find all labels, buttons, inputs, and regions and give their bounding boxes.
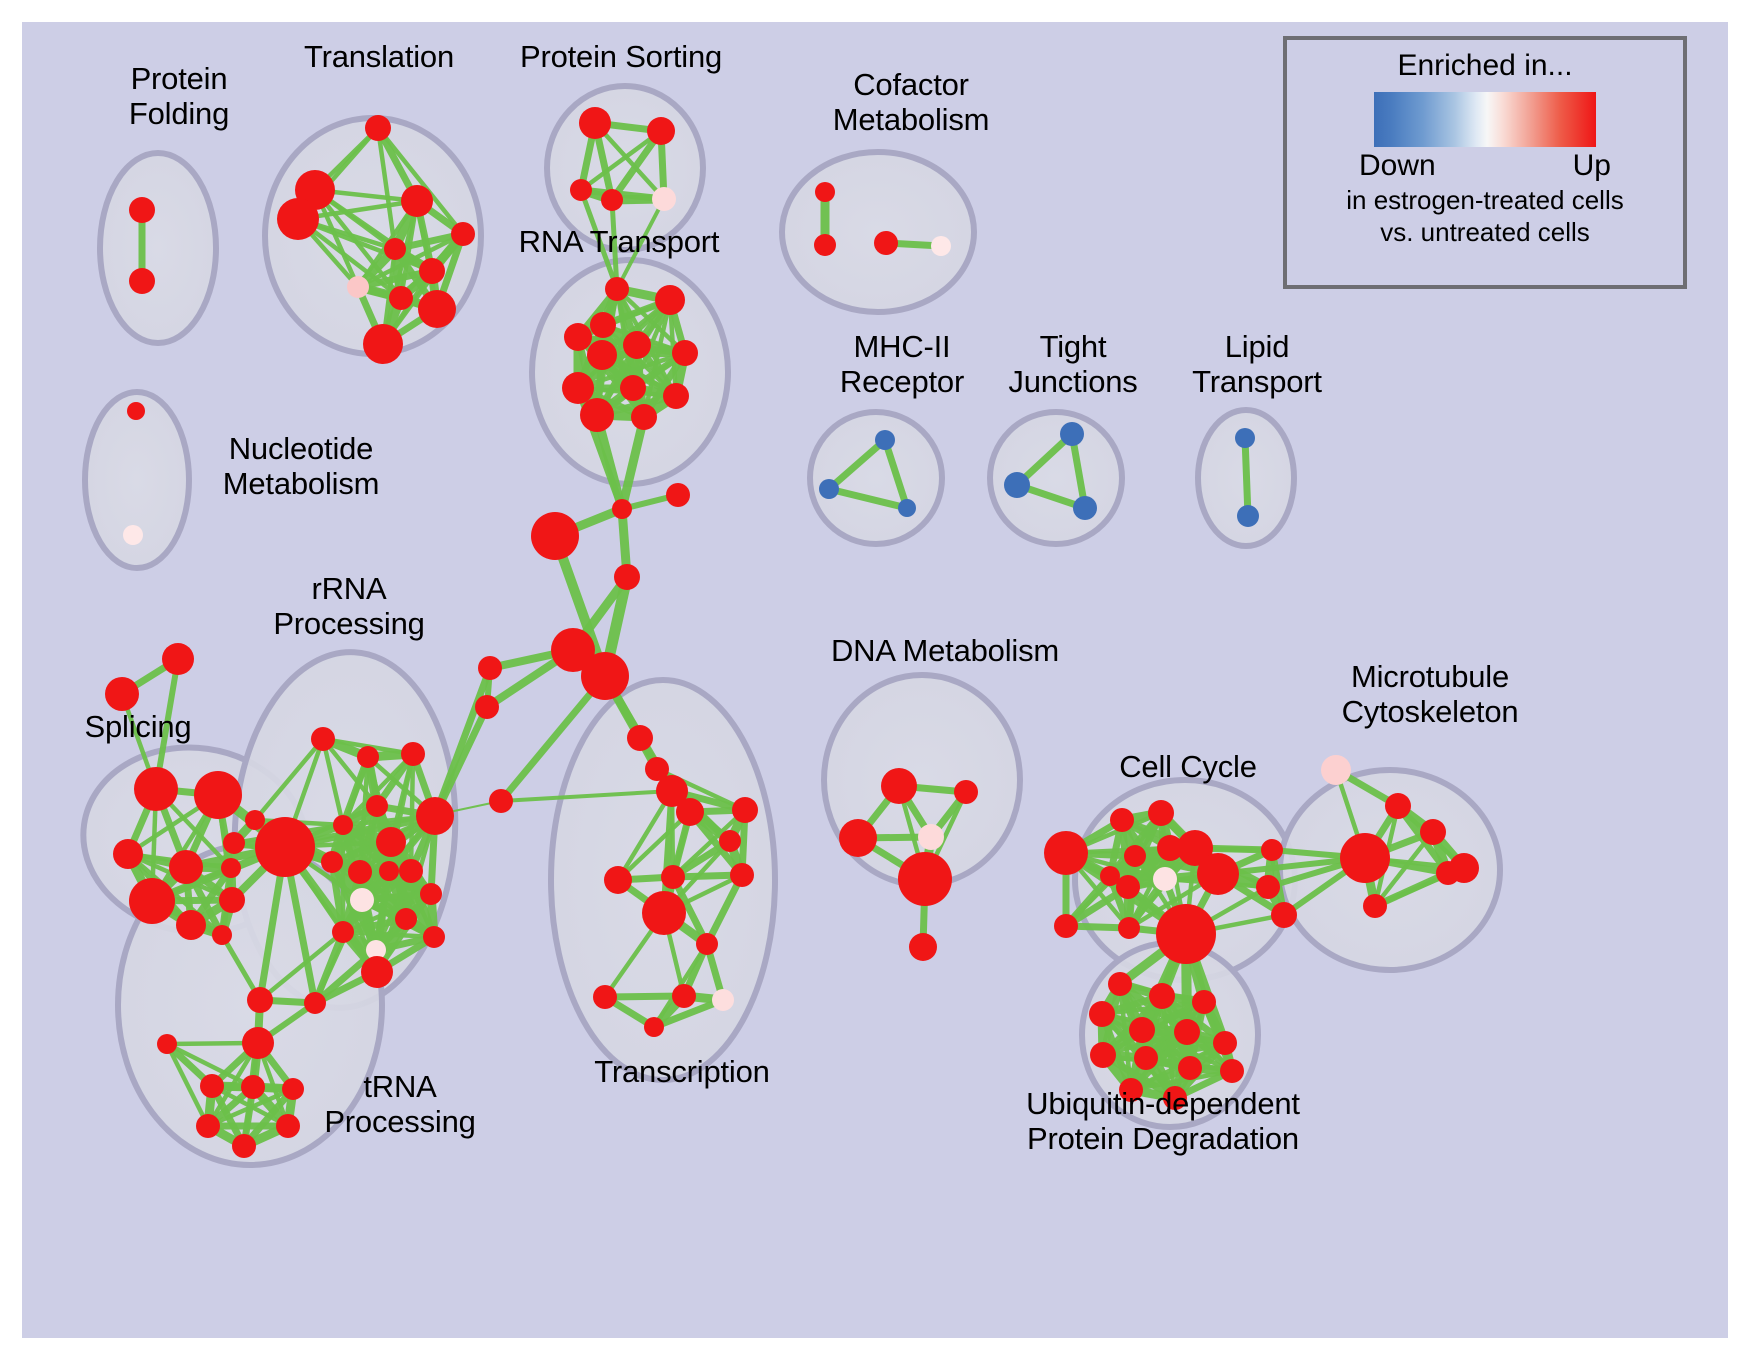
network-node (363, 324, 403, 364)
network-node (350, 888, 374, 912)
network-node (129, 197, 155, 223)
network-node (1213, 1031, 1237, 1055)
network-node (162, 643, 194, 675)
network-node (311, 727, 335, 751)
network-node (875, 430, 895, 450)
network-node (531, 512, 579, 560)
legend-subtitle-line2: vs. untreated cells (1287, 217, 1683, 247)
network-node (954, 780, 978, 804)
network-node (176, 910, 206, 940)
network-node (663, 383, 689, 409)
enrichment-map-figure: Protein FoldingTranslationProtein Sortin… (0, 0, 1750, 1360)
network-node (357, 746, 379, 768)
cluster-label-cell-cycle: Cell Cycle (1094, 750, 1282, 785)
network-node (1156, 904, 1216, 964)
network-node (376, 827, 406, 857)
network-node (1192, 990, 1216, 1014)
network-node (604, 866, 632, 894)
cluster-ellipse-mhc-ii-receptor (810, 412, 942, 544)
cluster-label-rna-transport: RNA Transport (492, 225, 746, 260)
network-node (420, 883, 442, 905)
network-node (157, 1034, 177, 1054)
network-node (1178, 1056, 1202, 1080)
network-node (1340, 833, 1390, 883)
network-node (416, 797, 454, 835)
network-node (1321, 755, 1351, 785)
cluster-ellipse-cofactor-metabolism (782, 152, 974, 312)
cluster-ellipse-protein-folding (100, 153, 216, 343)
cluster-label-nucleotide-metabolism: Nucleotide Metabolism (190, 432, 412, 501)
legend-subtitle-line1: in estrogen-treated cells (1287, 185, 1683, 215)
network-node (423, 926, 445, 948)
network-node (672, 340, 698, 366)
network-node (881, 768, 917, 804)
network-node (732, 797, 758, 823)
network-node (247, 987, 273, 1013)
network-node (666, 483, 690, 507)
network-node (1449, 853, 1479, 883)
network-node (1237, 505, 1259, 527)
network-node (627, 725, 653, 751)
network-node (1153, 867, 1177, 891)
network-node (1385, 793, 1411, 819)
network-node (909, 933, 937, 961)
network-node (1054, 914, 1078, 938)
cluster-label-microtubule-cytoskeleton: Microtubule Cytoskeleton (1300, 660, 1560, 729)
cluster-label-ubiquitin-degradation: Ubiquitin-dependent Protein Degradation (978, 1087, 1348, 1156)
network-node (730, 863, 754, 887)
network-node (1363, 894, 1387, 918)
network-node (814, 234, 836, 256)
network-node (129, 268, 155, 294)
network-node (221, 858, 241, 878)
network-node (105, 677, 139, 711)
network-node (898, 499, 916, 517)
network-node (321, 851, 343, 873)
cluster-label-mhc-ii-receptor: MHC-II Receptor (798, 330, 1006, 399)
network-node (379, 861, 399, 881)
network-node (395, 908, 417, 930)
network-node (212, 925, 232, 945)
cluster-label-tight-junctions: Tight Junctions (978, 330, 1168, 399)
network-node (451, 222, 475, 246)
network-node (587, 340, 617, 370)
network-node (242, 1027, 274, 1059)
network-node (1271, 902, 1297, 928)
cluster-label-transcription: Transcription (568, 1055, 796, 1090)
network-node (1004, 472, 1030, 498)
legend-title: Enriched in... (1287, 49, 1683, 83)
cluster-label-rrna-processing: rRNA Processing (244, 572, 454, 641)
network-node (401, 742, 425, 766)
network-node (384, 238, 406, 260)
network-node (399, 859, 423, 883)
network-node (304, 992, 326, 1014)
network-node (839, 819, 877, 857)
network-node (277, 198, 319, 240)
cluster-label-cofactor-metabolism: Cofactor Metabolism (790, 68, 1032, 137)
network-node (389, 286, 413, 310)
legend-gradient-bar-wrap (1287, 92, 1683, 147)
network-node (672, 984, 696, 1008)
network-node (590, 312, 616, 338)
network-node (1420, 819, 1446, 845)
network-node (401, 185, 433, 217)
network-node (1129, 1017, 1155, 1043)
network-node (1124, 845, 1146, 867)
cluster-label-lipid-transport: Lipid Transport (1162, 330, 1352, 399)
cluster-label-trna-processing: tRNA Processing (300, 1070, 500, 1139)
network-node (1148, 800, 1174, 826)
network-edge (1245, 438, 1248, 516)
network-node (134, 767, 178, 811)
network-node (712, 989, 734, 1011)
legend-high-label: Up (1573, 149, 1611, 183)
network-node (614, 564, 640, 590)
network-node (874, 231, 898, 255)
network-node (581, 652, 629, 700)
network-node (623, 331, 651, 359)
network-node (1149, 983, 1175, 1009)
network-node (1089, 1001, 1115, 1027)
network-node (647, 117, 675, 145)
network-node (255, 817, 315, 877)
network-node (276, 1114, 300, 1138)
network-node (196, 1114, 220, 1138)
network-node (1110, 808, 1134, 832)
network-node (1108, 972, 1132, 996)
legend-endpoints: Down Up (1359, 149, 1611, 183)
network-node (1197, 853, 1239, 895)
network-node (644, 1017, 664, 1037)
network-node (1060, 422, 1084, 446)
legend-box: Enriched in... Down Up in estrogen-treat… (1283, 36, 1687, 289)
network-node (129, 878, 175, 924)
cluster-label-protein-sorting: Protein Sorting (490, 40, 752, 75)
network-node (1220, 1059, 1244, 1083)
network-node (719, 830, 741, 852)
network-node (1073, 496, 1097, 520)
network-node (127, 402, 145, 420)
network-node (232, 1134, 256, 1158)
network-node (1118, 917, 1140, 939)
network-node (819, 479, 839, 499)
network-node (169, 850, 203, 884)
network-node (1044, 831, 1088, 875)
network-node (1235, 428, 1255, 448)
network-node (642, 891, 686, 935)
network-node (332, 921, 354, 943)
network-node (1100, 866, 1120, 886)
network-node (366, 795, 388, 817)
network-node (419, 258, 445, 284)
cluster-label-translation: Translation (268, 40, 490, 75)
network-node (570, 179, 592, 201)
network-node (631, 404, 657, 430)
network-node (200, 1074, 224, 1098)
network-node (931, 236, 951, 256)
network-node (918, 824, 944, 850)
network-node (365, 115, 391, 141)
network-node (562, 372, 594, 404)
network-node (620, 375, 646, 401)
cluster-label-dna-metabolism: DNA Metabolism (800, 634, 1090, 669)
network-node (815, 182, 835, 202)
network-node (655, 285, 685, 315)
network-node (241, 1075, 265, 1099)
network-node (489, 789, 513, 813)
network-node (347, 276, 369, 298)
network-node (601, 189, 623, 211)
legend-gradient-bar (1374, 92, 1596, 147)
cluster-label-protein-folding: Protein Folding (84, 62, 274, 131)
network-node (1256, 875, 1280, 899)
network-node (676, 798, 704, 826)
network-node (1134, 1046, 1158, 1070)
network-node (418, 290, 456, 328)
network-node (652, 187, 676, 211)
network-node (219, 887, 245, 913)
network-node (580, 398, 614, 432)
network-node (1261, 839, 1283, 861)
network-node (593, 985, 617, 1009)
network-node (223, 832, 245, 854)
network-node (478, 656, 502, 680)
network-node (661, 865, 685, 889)
network-node (113, 839, 143, 869)
network-node (333, 815, 353, 835)
cluster-label-splicing: Splicing (58, 710, 218, 745)
network-node (475, 695, 499, 719)
legend-low-label: Down (1359, 149, 1436, 183)
network-node (605, 277, 629, 301)
network-node (1174, 1019, 1200, 1045)
network-node (361, 956, 393, 988)
network-node (245, 810, 265, 830)
network-node (579, 107, 611, 139)
network-node (898, 852, 952, 906)
network-node (123, 525, 143, 545)
network-node (1090, 1042, 1116, 1068)
network-node (696, 933, 718, 955)
network-node (564, 323, 592, 351)
network-node (612, 499, 632, 519)
network-node (348, 860, 372, 884)
network-node (194, 771, 242, 819)
